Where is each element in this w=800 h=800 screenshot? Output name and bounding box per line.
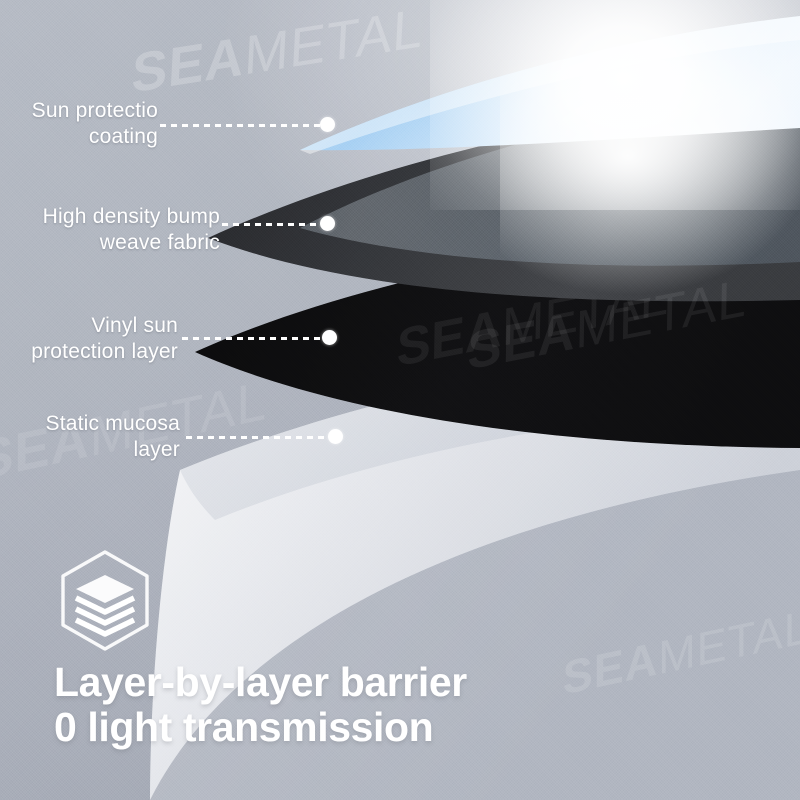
anchor-dot: [328, 429, 343, 444]
headline: Layer-by-layer barrier 0 light transmiss…: [54, 660, 467, 750]
callout-label: Sun protectio coating: [8, 98, 158, 150]
leader-line: [222, 223, 320, 226]
leader-line: [182, 337, 322, 340]
anchor-dot: [320, 216, 335, 231]
leader-line: [186, 436, 328, 439]
leader-line: [160, 124, 320, 127]
anchor-dot: [322, 330, 337, 345]
stacked-layers-hexagon-icon: [55, 548, 155, 653]
callout-label: Static mucosa layer: [8, 411, 180, 463]
infographic-canvas: SEAMETAL SEAMETAL SEAMETAL SEAMETAL Sun …: [0, 0, 800, 800]
callout-label: Vinyl sun protection layer: [0, 313, 178, 365]
callout-label: High density bump weave fabric: [8, 204, 220, 256]
anchor-dot: [320, 117, 335, 132]
